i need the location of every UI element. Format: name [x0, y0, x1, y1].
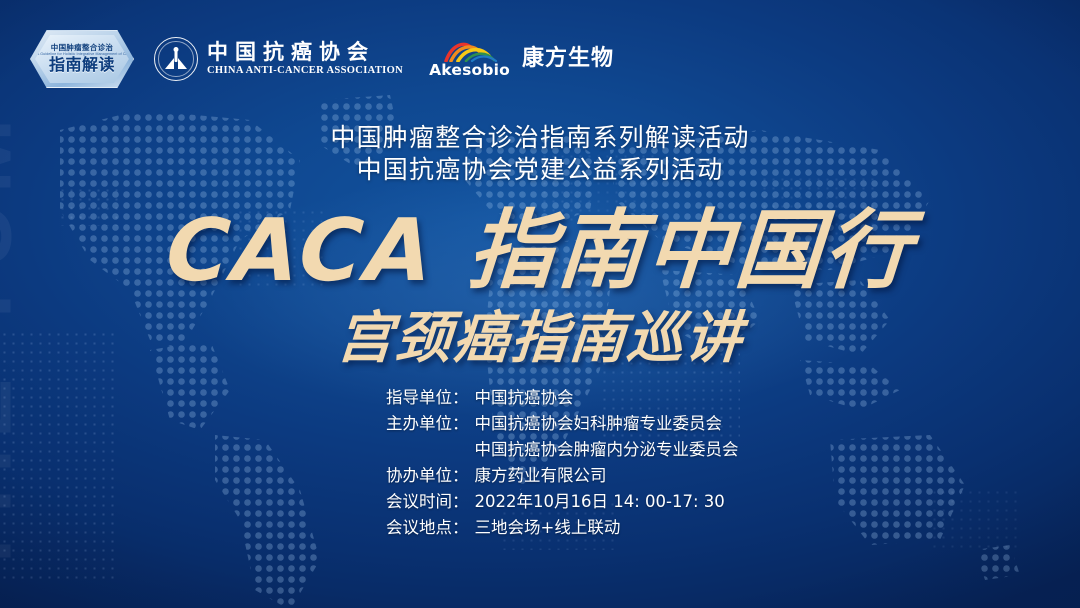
guideline-badge-main-text: 指南解读: [49, 57, 115, 74]
dove-figure: [165, 47, 187, 71]
caca-english-name: CHINA ANTI-CANCER ASSOCIATION: [207, 65, 403, 77]
detail-row: 会议时间：2022年10月16日 14: 00-17: 30: [386, 490, 739, 514]
akesobio-mark: Akesobio: [429, 40, 510, 79]
caca-wordmark: 中国抗癌协会 CHINA ANTI-CANCER ASSOCIATION: [207, 41, 403, 77]
detail-row: 主办单位：中国抗癌协会肿瘤内分泌专业委员会: [386, 438, 739, 462]
akesobio-english-name: Akesobio: [429, 63, 510, 79]
akesobio-swoosh-icon: [442, 40, 498, 62]
guideline-badge-english-text: CACA Guideline for Holistic Integrative …: [29, 53, 135, 56]
detail-label: 会议地点：: [386, 516, 469, 540]
detail-value: 三地会场+线上联动: [469, 516, 621, 540]
akesobio-logo: Akesobio 康方生物: [429, 40, 614, 79]
event-details: 指导单位：中国抗癌协会主办单位：中国抗癌协会妇科肿瘤专业委员会主办单位：中国抗癌…: [386, 386, 739, 540]
detail-row: 主办单位：中国抗癌协会妇科肿瘤专业委员会: [386, 412, 739, 436]
akesobio-chinese-name: 康方生物: [522, 48, 614, 70]
detail-label: 协办单位：: [386, 464, 469, 488]
caca-logo: 中国抗癌协会 CHINA ANTI-CANCER ASSOCIATION: [154, 37, 403, 81]
detail-value: 2022年10月16日 14: 00-17: 30: [469, 490, 725, 514]
detail-row: 会议地点：三地会场+线上联动: [386, 516, 739, 540]
guideline-badge-logo: 中国肿瘤整合诊治 CACA Guideline for Holistic Int…: [30, 30, 134, 88]
guideline-badge-top-text: 中国肿瘤整合诊治: [51, 44, 113, 52]
detail-row: 指导单位：中国抗癌协会: [386, 386, 739, 410]
detail-label: 主办单位：: [386, 412, 469, 436]
guideline-badge-inner: 中国肿瘤整合诊治 CACA Guideline for Holistic Int…: [35, 35, 129, 83]
event-poster: THE TUM 中国肿瘤整合诊治 CACA Guideline for Holi…: [0, 0, 1080, 608]
detail-row: 协办单位：康方药业有限公司: [386, 464, 739, 488]
subtitle-line-2: 中国抗癌协会党建公益系列活动: [0, 154, 1080, 186]
detail-value: 中国抗癌协会妇科肿瘤专业委员会: [469, 412, 723, 436]
page-title: CACA 指南中国行: [0, 205, 1080, 297]
caca-chinese-name: 中国抗癌协会: [207, 41, 403, 64]
logo-bar: 中国肿瘤整合诊治 CACA Guideline for Holistic Int…: [30, 28, 614, 90]
detail-value: 中国抗癌协会肿瘤内分泌专业委员会: [469, 438, 739, 462]
detail-label: 会议时间：: [386, 490, 469, 514]
dove-seal-icon: [154, 37, 198, 81]
page-subtitle: 宫颈癌指南巡讲: [0, 308, 1080, 370]
subtitle-line-1: 中国肿瘤整合诊治指南系列解读活动: [0, 122, 1080, 154]
detail-label: 指导单位：: [386, 386, 469, 410]
subtitle-block: 中国肿瘤整合诊治指南系列解读活动 中国抗癌协会党建公益系列活动: [0, 122, 1080, 186]
detail-value: 中国抗癌协会: [469, 386, 574, 410]
detail-value: 康方药业有限公司: [469, 464, 607, 488]
